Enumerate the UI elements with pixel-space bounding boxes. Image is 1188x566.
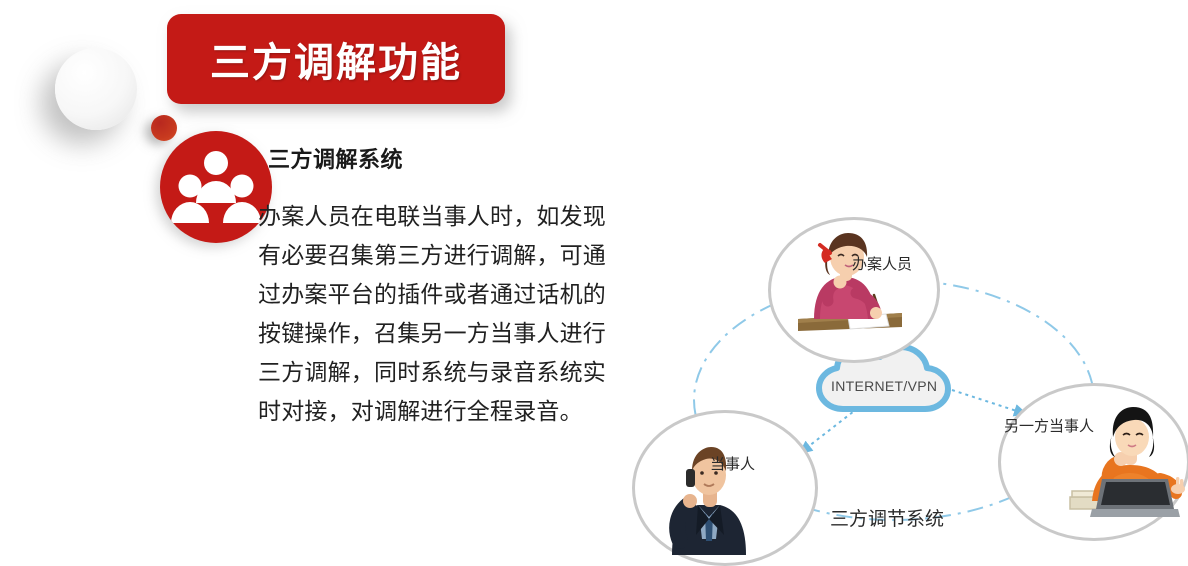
woman-at-desk-on-phone-art xyxy=(790,227,910,347)
paragraph-line: 三方调解，同时系统与录音系统实 xyxy=(258,354,658,393)
node-label-other-party: 另一方当事人 xyxy=(1004,415,1094,436)
arrow-cloud-to-party xyxy=(800,408,858,453)
page-title: 三方调解功能 xyxy=(210,30,462,88)
slide-canvas: 三方调解功能 三方调解系统 办案人员在电联当事人时，如发现 有必要召集第三方进行… xyxy=(0,0,1188,549)
network-diagram: 办案人员 当事人 另一方当事人 INTERNET/VPN 三方调节系统 xyxy=(600,195,1188,549)
section-paragraph: 办案人员在电联当事人时，如发现 有必要召集第三方进行调解，可通 过办案平台的插件… xyxy=(258,198,658,432)
paragraph-line: 办案人员在电联当事人时，如发现 xyxy=(258,198,658,237)
paragraph-line: 时对接，对调解进行全程录音。 xyxy=(258,393,658,432)
diagram-caption: 三方调节系统 xyxy=(830,504,944,531)
paragraph-line: 过办案平台的插件或者通过话机的 xyxy=(258,276,658,315)
paragraph-line: 有必要召集第三方进行调解，可通 xyxy=(258,237,658,276)
node-label-party: 当事人 xyxy=(710,453,755,474)
node-label-handler: 办案人员 xyxy=(852,253,912,274)
arrow-cloud-to-other-party xyxy=(952,390,1026,414)
title-banner: 三方调解功能 xyxy=(167,14,505,104)
three-people-icon xyxy=(160,131,272,243)
section-heading: 三方调解系统 xyxy=(268,142,403,174)
decorative-white-circle xyxy=(55,48,137,130)
internet-cloud-label: INTERNET/VPN xyxy=(831,378,937,394)
paragraph-line: 按键操作，召集另一方当事人进行 xyxy=(258,315,658,354)
